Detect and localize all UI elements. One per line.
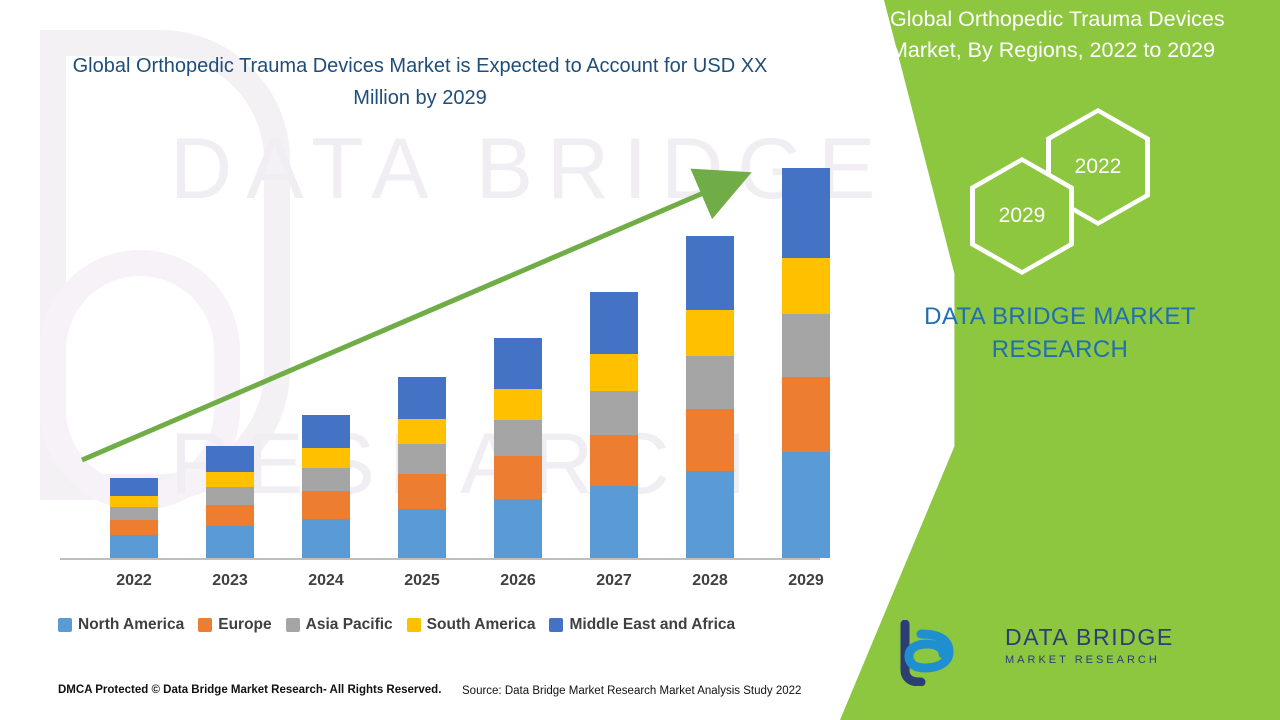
- bar-stack-2025: [398, 377, 446, 558]
- bar-stack-2023: [206, 446, 254, 558]
- bar-segment: [590, 292, 638, 354]
- bar-segment: [206, 472, 254, 487]
- bar-segment: [302, 491, 350, 519]
- bar-segment: [206, 487, 254, 505]
- x-axis-label-2024: 2024: [286, 572, 366, 590]
- hexagon-2029-label: 2029: [999, 204, 1046, 228]
- data-bridge-logo: DATA BRIDGE MARKET RESEARCH: [885, 620, 1265, 690]
- legend-label: North America: [78, 616, 184, 634]
- x-axis-label-2022: 2022: [94, 572, 174, 590]
- bar-stack-2029: [782, 168, 830, 558]
- bar-segment: [494, 499, 542, 559]
- right-brand-panel: Global Orthopedic Trauma Devices Market,…: [840, 0, 1280, 720]
- bar-segment: [590, 391, 638, 435]
- chart-plot-area: [60, 160, 820, 560]
- bar-segment: [782, 377, 830, 451]
- bar-segment: [782, 452, 830, 558]
- legend-label: Middle East and Africa: [569, 616, 735, 634]
- x-axis-label-2026: 2026: [478, 572, 558, 590]
- hexagon-group: 2022 2029: [970, 140, 1200, 275]
- logo-mark-icon: [885, 620, 995, 686]
- bar-segment: [686, 356, 734, 409]
- legend-swatch-icon: [286, 618, 300, 632]
- bar-stack-2022: [110, 478, 158, 558]
- bar-segment: [686, 310, 734, 356]
- bar-segment: [206, 446, 254, 472]
- legend-swatch-icon: [549, 618, 563, 632]
- legend-label: Asia Pacific: [306, 616, 393, 634]
- brand-text-line2: RESEARCH: [864, 333, 1256, 366]
- legend-item[interactable]: North America: [58, 616, 184, 634]
- x-axis-label-2028: 2028: [670, 572, 750, 590]
- bar-segment: [686, 409, 734, 471]
- legend-item[interactable]: Middle East and Africa: [549, 616, 735, 634]
- bar-stack-2026: [494, 338, 542, 558]
- bar-segment: [110, 520, 158, 535]
- bar-segment: [206, 505, 254, 526]
- footer-copyright: DMCA Protected © Data Bridge Market Rese…: [58, 684, 441, 696]
- bar-segment: [494, 338, 542, 389]
- bar-segment: [782, 168, 830, 258]
- x-axis-label-2027: 2027: [574, 572, 654, 590]
- legend-item[interactable]: Europe: [198, 616, 271, 634]
- legend-label: South America: [427, 616, 536, 634]
- logo-subtitle: MARKET RESEARCH: [1005, 654, 1160, 666]
- hexagon-2022-label: 2022: [1075, 155, 1122, 179]
- bar-segment: [686, 471, 734, 558]
- logo-name: DATA BRIDGE: [1005, 624, 1174, 651]
- x-axis-line: [60, 558, 820, 560]
- bar-stack-2024: [302, 415, 350, 558]
- bar-stack-2028: [686, 236, 734, 558]
- bar-segment: [398, 419, 446, 445]
- brand-text-line1: DATA BRIDGE MARKET: [864, 300, 1256, 333]
- bar-segment: [206, 526, 254, 558]
- bar-segment: [398, 444, 446, 474]
- bar-segment: [782, 314, 830, 378]
- brand-text: DATA BRIDGE MARKET RESEARCH: [864, 300, 1256, 366]
- chart-legend: North AmericaEuropeAsia PacificSouth Ame…: [58, 616, 828, 634]
- bar-segment: [110, 496, 158, 507]
- bar-segment: [590, 435, 638, 486]
- x-axis-label-2029: 2029: [766, 572, 846, 590]
- bar-segment: [398, 377, 446, 418]
- bar-segment: [398, 474, 446, 509]
- legend-swatch-icon: [58, 618, 72, 632]
- bar-segment: [494, 389, 542, 420]
- bar-segment: [302, 468, 350, 491]
- bar-segment: [302, 415, 350, 448]
- bar-segment: [590, 354, 638, 391]
- x-axis-labels: 20222023202420252026202720282029: [60, 572, 820, 598]
- x-axis-label-2023: 2023: [190, 572, 270, 590]
- x-axis-label-2025: 2025: [382, 572, 462, 590]
- legend-item[interactable]: Asia Pacific: [286, 616, 393, 634]
- bar-segment: [590, 486, 638, 558]
- bar-segment: [398, 509, 446, 558]
- legend-item[interactable]: South America: [407, 616, 536, 634]
- legend-swatch-icon: [407, 618, 421, 632]
- hexagon-2029: 2029: [970, 157, 1074, 275]
- bar-segment: [302, 519, 350, 558]
- bar-segment: [110, 478, 158, 496]
- bar-segment: [494, 420, 542, 456]
- bar-segment: [494, 456, 542, 499]
- footer-source: Source: Data Bridge Market Research Mark…: [462, 685, 801, 697]
- bar-segment: [110, 507, 158, 520]
- legend-label: Europe: [218, 616, 271, 634]
- bar-segment: [302, 448, 350, 468]
- bar-segment: [686, 236, 734, 310]
- bar-segment: [782, 258, 830, 313]
- bar-segment: [110, 535, 158, 558]
- page-title: Global Orthopedic Trauma Devices Market …: [70, 50, 770, 114]
- panel-title: Global Orthopedic Trauma Devices Market,…: [890, 4, 1262, 66]
- legend-swatch-icon: [198, 618, 212, 632]
- bar-stack-2027: [590, 292, 638, 558]
